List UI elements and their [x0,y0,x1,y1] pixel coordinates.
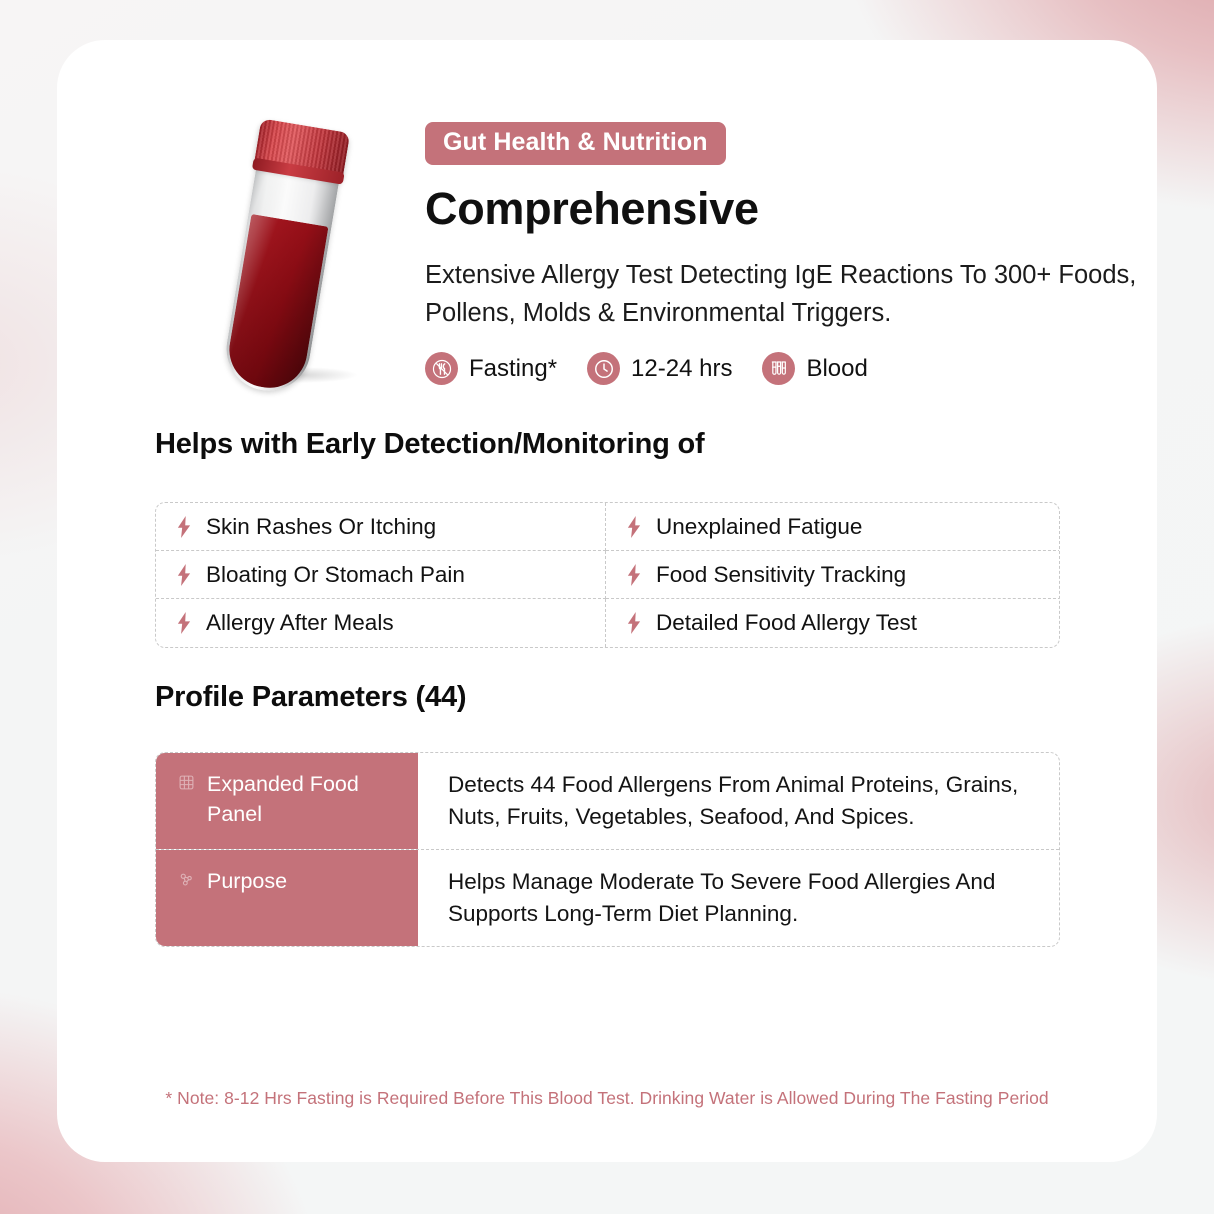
table-row: Expanded Food Panel Detects 44 Food Alle… [156,753,1059,850]
parameters-section-heading: Profile Parameters (44) [155,681,466,714]
lightning-bolt-icon [626,564,642,586]
blood-collection-tube-icon [220,119,347,397]
test-profile-card: Gut Health & Nutrition Comprehensive Ext… [57,40,1157,1162]
meta-item-fasting: Fasting* [425,352,557,385]
helps-grid: Skin Rashes Or Itching Unexplained Fatig… [155,502,1060,648]
parameter-value-cell: Helps Manage Moderate To Severe Food All… [418,850,1059,946]
parameter-value-cell: Detects 44 Food Allergens From Animal Pr… [418,753,1059,849]
help-item-label: Allergy After Meals [206,610,394,636]
meta-label-sample: Blood [806,355,867,383]
help-item-label: Unexplained Fatigue [656,514,862,540]
parameter-key-label: Purpose [207,867,287,897]
lightning-bolt-icon [626,516,642,538]
fasting-note: * Note: 8-12 Hrs Fasting is Required Bef… [57,1088,1157,1109]
help-item-label: Food Sensitivity Tracking [656,562,906,588]
meta-item-duration: 12-24 hrs [587,352,732,385]
parameters-table: Expanded Food Panel Detects 44 Food Alle… [155,752,1060,947]
parameter-key-cell: Purpose [156,850,418,946]
molecule-icon [178,871,195,888]
parameter-key-label: Expanded Food Panel [207,770,404,829]
meta-label-fasting: Fasting* [469,355,557,383]
test-tubes-icon [762,352,795,385]
help-item: Detailed Food Allergy Test [606,599,1060,647]
test-meta-row: Fasting* 12-24 hrs [425,352,1147,385]
lightning-bolt-icon [176,612,192,634]
help-item: Food Sensitivity Tracking [606,551,1060,599]
category-badge: Gut Health & Nutrition [425,122,726,165]
parameter-key-cell: Expanded Food Panel [156,753,418,849]
blood-tube-illustration [209,115,399,405]
help-item-label: Bloating Or Stomach Pain [206,562,465,588]
helps-section-heading: Helps with Early Detection/Monitoring of [155,428,704,461]
help-item: Bloating Or Stomach Pain [156,551,606,599]
hero-subtitle: Extensive Allergy Test Detecting IgE Rea… [425,257,1147,332]
meta-item-sample: Blood [762,352,867,385]
help-item: Skin Rashes Or Itching [156,503,606,551]
meta-label-duration: 12-24 hrs [631,355,732,383]
lightning-bolt-icon [176,564,192,586]
lightning-bolt-icon [176,516,192,538]
clock-icon [587,352,620,385]
no-food-fasting-icon [425,352,458,385]
hero-text-column: Gut Health & Nutrition Comprehensive Ext… [425,122,1147,385]
help-item-label: Skin Rashes Or Itching [206,514,436,540]
help-item: Allergy After Meals [156,599,606,647]
grid-panel-icon [178,774,195,791]
page-title: Comprehensive [425,183,1147,235]
help-item: Unexplained Fatigue [606,503,1060,551]
hero-section: Gut Health & Nutrition Comprehensive Ext… [57,40,1157,370]
lightning-bolt-icon [626,612,642,634]
help-item-label: Detailed Food Allergy Test [656,610,917,636]
table-row: Purpose Helps Manage Moderate To Severe … [156,850,1059,946]
